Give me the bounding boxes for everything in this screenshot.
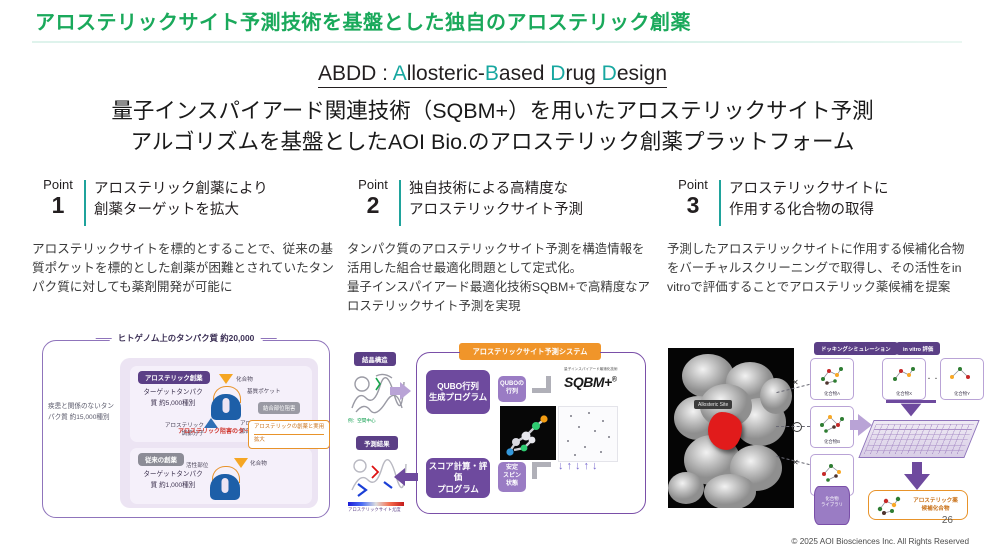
point-2-word: Point xyxy=(358,177,388,192)
figure-1-note-active-site: 活性部位 xyxy=(186,462,208,470)
point-2-heading-line-1: 独自技術による高精度な xyxy=(409,179,652,200)
figure-1-note-compound: 化合物 xyxy=(250,460,267,468)
abdd-letter-d1: D xyxy=(550,62,565,85)
score-program-line-1: スコア計算・評価 xyxy=(426,461,490,484)
figures-row: ヒトゲノム上のタンパク質 約20,000 疾患と関係のないタンパク質 約15,0… xyxy=(0,340,985,525)
assay-plate-wells xyxy=(864,424,974,454)
point-2-heading-line-2: アロステリックサイト予測 xyxy=(409,200,652,221)
figure-allosteric-target-expansion: ヒトゲノム上のタンパク質 約20,000 疾患と関係のないタンパク質 約15,0… xyxy=(42,340,330,518)
qubo-program-line-2: 生成プログラム xyxy=(429,392,487,403)
figure-2-hook-arrow-top xyxy=(532,376,551,393)
figure-2-input-note: 例：空間中心 xyxy=(348,418,376,424)
point-1-body: アロステリックサイトを標的とすることで、従来の基質ポケットを標的とした創薬が困難… xyxy=(32,240,337,297)
figure-1-orange-rule xyxy=(254,434,324,435)
molecule-dots-icon-y xyxy=(947,363,977,387)
point-3-header: Point 3 アロステリックサイトに 作用する化合物の取得 xyxy=(667,178,972,228)
figure-1-note-effector: 化合物 xyxy=(236,376,253,384)
point-3-word-wrap: Point 3 xyxy=(667,178,719,217)
candidate-molecule-b: 化合物B xyxy=(810,406,854,448)
molecule-dots-icon-x xyxy=(889,363,919,387)
abdd-subtitle: ABDD : Allosteric-Based Drug Design xyxy=(0,62,985,86)
figure-1-caption: ヒトゲノム上のタンパク質 約20,000 xyxy=(110,332,263,344)
figure-3-tag-docking: ドッキングシミュレーション xyxy=(814,342,898,355)
assay-plate xyxy=(858,420,979,458)
molecule-3d-icon xyxy=(500,406,556,460)
candidate-molecule-a: 化合物A xyxy=(810,358,854,400)
point-1-heading-line-1: アロステリック創薬により xyxy=(94,179,337,200)
spin-chip-line-2: スピン xyxy=(503,473,521,481)
figure-1-label-conventional: ターゲットタンパク質 約1,000種別 xyxy=(142,470,204,491)
qubo-generation-program: QUBO行列 生成プログラム xyxy=(426,370,490,414)
point-1-heading-line-2: 創薬ターゲットを拡大 xyxy=(94,200,337,221)
protein-surface-image: Allosteric Site xyxy=(668,348,794,508)
point-2-body: タンパク質のアロステリックサイト予測を構造情報を活用した組合せ最適化問題として定… xyxy=(347,240,652,278)
figure-2-banner: アロステリックサイト予測システム xyxy=(460,344,600,359)
sqbm-logo-text: SQBM+ xyxy=(564,374,612,390)
point-3-word: Point xyxy=(678,177,708,192)
sqbm-logo: SQBM+® xyxy=(564,374,616,390)
point-2-divider xyxy=(399,180,401,226)
figure-2-hook-arrow-bottom xyxy=(532,462,551,479)
spin-state-chip: 安定 スピン 状態 xyxy=(498,462,526,492)
point-1-heading: アロステリック創薬により 創薬ターゲットを拡大 xyxy=(94,178,337,220)
assay-molecule-x-label: 化合物X xyxy=(883,391,925,397)
allosteric-site-label: Allosteric Site xyxy=(694,400,732,409)
allosteric-modulator-triangle-icon xyxy=(204,418,218,428)
point-2-heading: 独自技術による高精度な アロステリックサイト予測 xyxy=(409,178,652,220)
figure-3-reject-mark-a: ✕ xyxy=(792,378,799,387)
figure-2-tag-output: 予測結果 xyxy=(356,436,398,450)
point-2-number: 2 xyxy=(347,193,399,217)
result-line-2: 候補化合物 xyxy=(904,505,967,513)
result-molecule-icon xyxy=(874,493,904,517)
molecule-dots-icon-a xyxy=(817,363,847,387)
compound-library-db: 化合物 ライブラリ xyxy=(814,486,850,525)
qubo-program-line-1: QUBO行列 xyxy=(429,381,487,392)
figure-2-arrow-out-tail xyxy=(404,473,418,481)
figure-1-side-label: 疾患と関係のないタンパク質 約15,000種別 xyxy=(48,402,118,424)
abdd-rest-1: llosteric- xyxy=(407,62,485,85)
point-2-body-2: 量子インスパイアード最適化技術SQBM+で高精度なアロステリックサイト予測を実現 xyxy=(347,278,652,316)
point-3-heading-line-1: アロステリックサイトに xyxy=(729,179,972,200)
effector-triangle-icon xyxy=(219,374,233,384)
candidate-molecule-b-label: 化合物B xyxy=(811,439,853,445)
qubo-chip-line-1: QUBOの xyxy=(500,381,524,389)
point-1-word-wrap: Point 1 xyxy=(32,178,84,217)
qubo-matrix-chip: QUBOの 行列 xyxy=(498,376,526,402)
figure-3-tag-invitro: in vitro 評価 xyxy=(896,342,940,355)
figure-2-arrow-in-tail xyxy=(390,387,402,395)
score-program-line-2: プログラム xyxy=(426,484,490,495)
figure-3-accept-mark xyxy=(792,422,802,432)
qubo-chip-line-2: 行列 xyxy=(500,389,524,397)
figure-3-merge-bar xyxy=(886,400,936,403)
point-3-number: 3 xyxy=(667,193,719,217)
point-3-body: 予測したアロステリックサイトに作用する候補化合物をバーチャルスクリーニングで取得… xyxy=(667,240,972,297)
spin-chip-line-3: 状態 xyxy=(503,481,521,489)
abdd-letter-d2: D xyxy=(602,62,617,85)
figure-2-tag-input: 結晶構造 xyxy=(354,352,396,366)
spin-chip-line-1: 安定 xyxy=(503,465,521,473)
molecular-model-image xyxy=(500,406,556,460)
point-1-header: Point 1 アロステリック創薬により 創薬ターゲットを拡大 xyxy=(32,178,337,228)
point-1-word: Point xyxy=(43,177,73,192)
figure-1-label-allosteric: ターゲットタンパク質 約5,000種別 xyxy=(142,388,204,409)
copyright-notice: © 2025 AOI Biosciences Inc. All Rights R… xyxy=(791,537,969,546)
point-1-divider xyxy=(84,180,86,226)
figure-3-arrow-tail xyxy=(850,420,860,430)
molecule-dots-icon-b xyxy=(817,411,847,435)
lead-heading: 量子インスパイアード関連技術（SQBM+）を用いたアロステリックサイト予測 アル… xyxy=(0,96,985,157)
assay-molecule-y: 化合物Y xyxy=(940,358,984,400)
sqbm-logo-sup: ® xyxy=(612,376,617,383)
figure-1-note-substrate: 基質ポケット xyxy=(247,388,281,396)
protein-shape-icon xyxy=(211,394,241,420)
point-column-1: Point 1 アロステリック創薬により 創薬ターゲットを拡大 アロステリックサ… xyxy=(32,178,337,297)
abdd-letter-a: A xyxy=(393,62,407,85)
figure-2-colorbar xyxy=(348,502,404,506)
abdd-letter-b: B xyxy=(485,62,499,85)
page-title: アロステリックサイト予測技術を基盤とした独自のアロステリック創薬 xyxy=(35,6,691,35)
figure-virtual-screening: Allosteric Site ドッキングシミュレーション in vitro 評… xyxy=(668,340,968,518)
abdd-rest-4: esign xyxy=(617,62,667,85)
point-1-number: 1 xyxy=(32,193,84,217)
scatter-dots-icon xyxy=(559,407,617,461)
title-divider xyxy=(32,41,962,43)
figure-sqbm-prediction-system: 結晶構造 例：空間中心 予測結果 xyxy=(342,340,648,518)
figure-1-orange-line-2: 拡大 xyxy=(254,437,265,443)
figure-1-orange-line-1: アロステリックの創薬と実用 xyxy=(254,424,324,430)
point-columns: Point 1 アロステリック創薬により 創薬ターゲットを拡大 アロステリックサ… xyxy=(0,178,985,338)
compound-triangle-icon xyxy=(234,458,248,468)
figure-1-tag-allosteric: アロステリック創薬 xyxy=(138,371,210,384)
lead-line-1: 量子インスパイアード関連技術（SQBM+）を用いたアロステリックサイト予測 xyxy=(0,96,985,127)
protein-shape-icon-2 xyxy=(210,474,240,500)
point-2-header: Point 2 独自技術による高精度な アロステリックサイト予測 xyxy=(347,178,652,228)
candidate-molecule-a-label: 化合物A xyxy=(811,391,853,397)
assay-molecule-x: 化合物X xyxy=(882,358,926,400)
lead-line-2: アルゴリズムを基盤としたAOI Bio.のアロステリック創薬プラットフォーム xyxy=(0,127,985,158)
point-3-divider xyxy=(719,180,721,226)
figure-1-block-conventional: 従来の創薬 ターゲットタンパク質 約1,000種別 化合物 活性部位 xyxy=(130,448,312,504)
abdd-prefix: ABDD : xyxy=(318,62,393,85)
figure-1-orange-note: アロステリックの創薬と実用 拡大 xyxy=(248,420,330,449)
abdd-rest-2: ased xyxy=(499,62,550,85)
figure-2-spin-symbols: ↓↑↓↑↓ xyxy=(558,460,601,472)
figure-2-plot-caption: 量子インスパイアード最適化技術 xyxy=(564,367,618,372)
point-column-2: Point 2 独自技術による高精度な アロステリックサイト予測 タンパク質のア… xyxy=(347,178,652,315)
point-2-word-wrap: Point 2 xyxy=(347,178,399,217)
result-candidate-text: アロステリック薬 候補化合物 xyxy=(904,497,967,513)
figure-2-colorbar-label: アロステリックサイト尤度 xyxy=(348,507,401,513)
figure-3-arrow-to-plate xyxy=(901,404,922,417)
abdd-rest-3: rug xyxy=(565,62,601,85)
figure-3-reject-mark-c: ✕ xyxy=(792,458,799,467)
result-line-1: アロステリック薬 xyxy=(904,497,967,505)
figure-1-gray-box: 結合部位阻害 xyxy=(258,402,300,414)
point-3-heading-line-2: 作用する化合物の取得 xyxy=(729,200,972,221)
assay-molecule-y-label: 化合物Y xyxy=(941,391,983,397)
page-number: 26 xyxy=(942,515,953,526)
point-column-3: Point 3 アロステリックサイトに 作用する化合物の取得 予測したアロステリ… xyxy=(667,178,972,297)
figure-3-arrow-to-result xyxy=(904,474,930,490)
point-3-heading: アロステリックサイトに 作用する化合物の取得 xyxy=(729,178,972,220)
sqbm-scatter-plot xyxy=(558,406,618,462)
compound-library-line-2: ライブラリ xyxy=(815,502,849,508)
score-evaluation-program: スコア計算・評価 プログラム xyxy=(426,458,490,498)
result-candidate-box: アロステリック薬 候補化合物 xyxy=(868,490,968,520)
molecule-dots-icon-c xyxy=(817,459,847,483)
figure-1-tag-conventional: 従来の創薬 xyxy=(138,453,184,466)
